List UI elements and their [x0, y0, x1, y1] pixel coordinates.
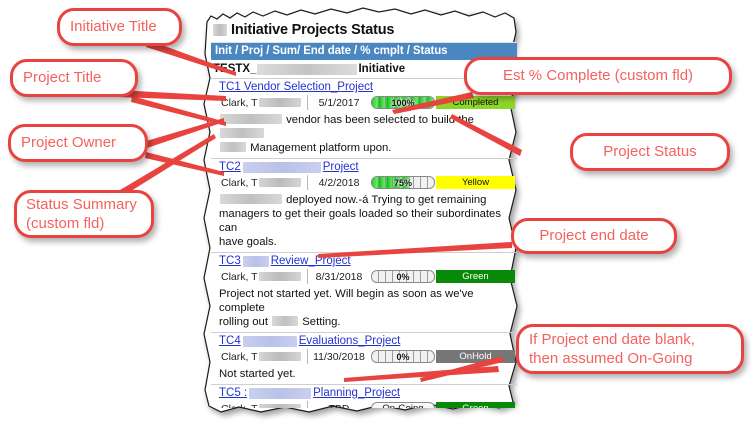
project-end-date: TBD — [308, 403, 370, 409]
project-title-suffix: Review_Project — [271, 255, 351, 267]
project-owner: Clark, T — [221, 269, 308, 284]
callout-status-summary: Status Summary (custom fld) — [14, 190, 154, 238]
project-meta: Clark, T 4/2/2018 75% Yellow — [211, 174, 517, 191]
callout-text: Project Owner — [21, 134, 116, 152]
project-owner-name: Clark, T — [221, 403, 258, 409]
progress-bar-label: 0% — [372, 271, 434, 282]
project-title-text: TC3 — [219, 255, 241, 267]
callout-text: Project end date — [539, 227, 648, 245]
callout-est-complete: Est % Complete (custom fld) — [464, 57, 732, 95]
project-percent-cell: 100% — [370, 96, 436, 109]
callout-text: Project Status — [603, 143, 696, 161]
project-owner: Clark, T — [221, 175, 308, 190]
project-owner-name: Clark, T — [221, 271, 258, 283]
callout-text: Est % Complete (custom fld) — [503, 67, 693, 85]
redaction-block — [249, 388, 311, 399]
callout-text-line2: (custom fld) — [26, 214, 104, 233]
progress-bar-label: 0% — [372, 351, 434, 362]
project-owner: Clark, T — [221, 349, 308, 364]
project-title-suffix: Project — [323, 161, 359, 173]
project-meta: Clark, T TBD On-Going Green — [211, 400, 517, 408]
project-title-text: TC1 Vendor Selection_Project — [219, 81, 373, 93]
status-badge: OnHold — [436, 350, 515, 363]
project-summary: Project not started yet. Will begin as s… — [211, 285, 517, 332]
project-percent-cell: On-Going — [370, 402, 436, 408]
project-percent-cell: 0% — [370, 350, 436, 363]
column-header-bar: Init / Proj / Sum/ End date / % cmplt / … — [211, 42, 517, 60]
redaction-block — [243, 162, 321, 173]
callout-ongoing-note: If Project end date blank, then assumed … — [516, 324, 744, 374]
project-meta: Clark, T 11/30/2018 0% OnHold — [211, 348, 517, 365]
project-title-text: TC5 : — [219, 387, 247, 399]
project-row: TC2 Project Clark, T 4/2/2018 75% Yell — [211, 159, 517, 253]
page-title: Initiative Projects Status — [211, 20, 517, 40]
callout-project-owner: Project Owner — [8, 124, 148, 162]
redaction-block — [257, 64, 357, 75]
initiative-suffix: Initiative — [358, 63, 405, 75]
redaction-block — [259, 178, 301, 187]
project-percent-cell: 75% — [370, 176, 436, 189]
project-end-date: 4/2/2018 — [308, 177, 370, 189]
project-status-cell: OnHold — [436, 350, 517, 363]
project-owner-name: Clark, T — [221, 351, 258, 363]
project-title-link-tc2[interactable]: TC2 Project — [211, 159, 517, 174]
progress-bar: 0% — [371, 270, 435, 283]
project-status-cell: Green — [436, 270, 517, 283]
callout-text: Project Title — [23, 69, 101, 87]
project-meta: Clark, T 8/31/2018 0% Green — [211, 268, 517, 285]
project-percent-cell: 0% — [370, 270, 436, 283]
status-badge: Green — [436, 402, 515, 408]
project-owner-name: Clark, T — [221, 97, 258, 109]
project-title-link-tc5[interactable]: TC5 : Planning_Project — [211, 385, 517, 400]
status-badge: Green — [436, 270, 515, 283]
callout-initiative-title: Initiative Title — [57, 8, 182, 46]
page-title-text: Initiative Projects Status — [231, 22, 394, 38]
project-end-date: 8/31/2018 — [308, 271, 370, 283]
project-title-link-tc4[interactable]: TC4 Evaluations_Project — [211, 333, 517, 348]
callout-project-end-date: Project end date — [511, 218, 677, 254]
project-summary: vendor has been selected to build the Ma… — [211, 111, 517, 158]
initiative-prefix: TESTX_ — [213, 63, 256, 75]
project-summary: deployed now.-á Trying to get remaining … — [211, 191, 517, 252]
redaction-block — [259, 272, 301, 281]
project-owner: Clark, T — [221, 401, 308, 408]
project-status-cell: Completed — [436, 96, 517, 109]
project-row: TC5 : Planning_Project Clark, T TBD On-G… — [211, 385, 517, 408]
progress-bar: 0% — [371, 350, 435, 363]
project-row: TC3 Review_Project Clark, T 8/31/2018 0% — [211, 253, 517, 333]
progress-bar: 100% — [371, 96, 435, 109]
callout-text: If Project end date blank, — [529, 330, 695, 349]
callout-text: Initiative Title — [70, 18, 157, 36]
project-owner: Clark, T — [221, 95, 308, 110]
redaction-block — [259, 98, 301, 107]
project-title-suffix: Planning_Project — [313, 387, 400, 399]
status-badge: Completed — [436, 96, 515, 109]
project-end-date: 5/1/2017 — [308, 97, 370, 109]
callout-project-status: Project Status — [570, 133, 730, 171]
status-badge: Yellow — [436, 176, 515, 189]
redaction-block — [243, 336, 297, 347]
redaction-block — [243, 256, 269, 267]
ongoing-badge: On-Going — [371, 402, 435, 408]
redaction-block — [259, 404, 301, 408]
callout-text: Status Summary — [26, 195, 137, 214]
project-meta: Clark, T 5/1/2017 100% Completed — [211, 94, 517, 111]
progress-bar-label: 100% — [372, 97, 434, 108]
project-end-date: 11/30/2018 — [308, 351, 370, 363]
project-row: TC4 Evaluations_Project Clark, T 11/30/2… — [211, 333, 517, 385]
redaction-block — [259, 352, 301, 361]
redaction-block — [213, 24, 227, 36]
project-status-cell: Yellow — [436, 176, 517, 189]
project-status-cell: Green — [436, 402, 517, 408]
progress-bar-label: 75% — [372, 177, 434, 188]
project-owner-name: Clark, T — [221, 177, 258, 189]
project-title-suffix: Evaluations_Project — [299, 335, 401, 347]
progress-bar: 75% — [371, 176, 435, 189]
callout-text-line2: then assumed On-Going — [529, 349, 692, 368]
callout-project-title: Project Title — [10, 59, 138, 97]
project-title-link-tc3[interactable]: TC3 Review_Project — [211, 253, 517, 268]
project-summary: Not started yet. — [211, 365, 517, 384]
project-title-text: TC4 — [219, 335, 241, 347]
project-title-text: TC2 — [219, 161, 241, 173]
